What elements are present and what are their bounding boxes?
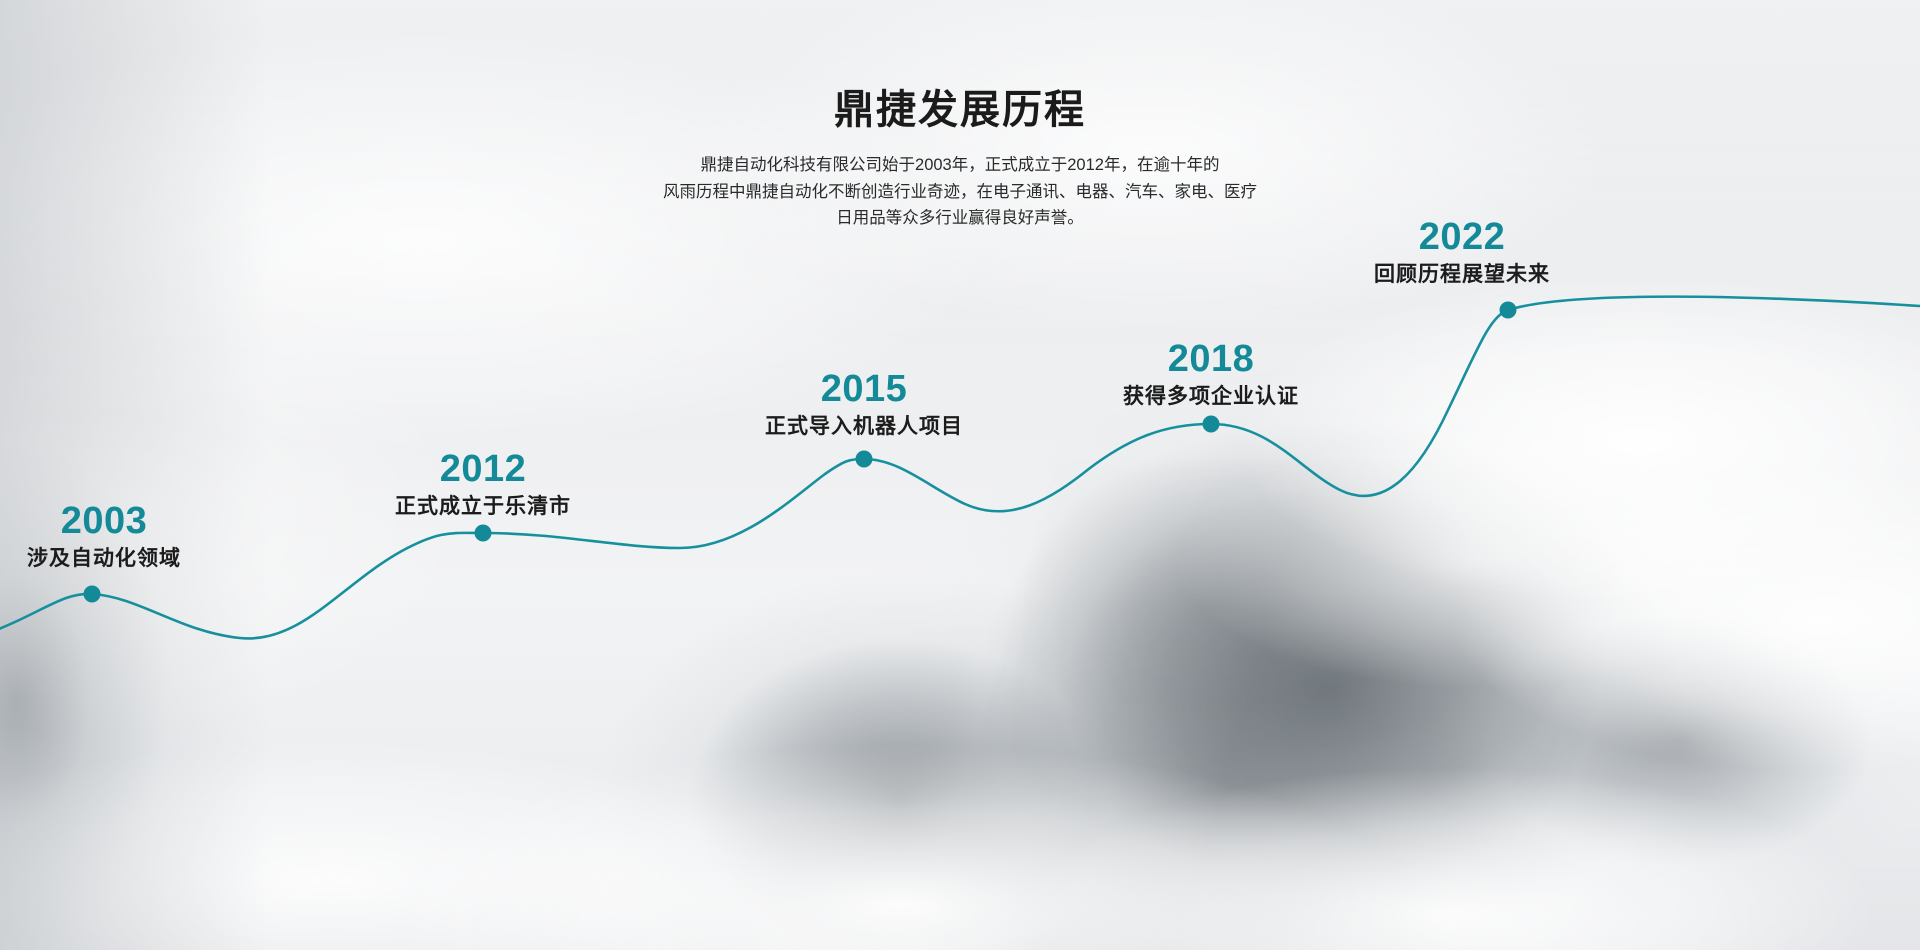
milestone-2003[interactable]: 2003涉及自动化领域 [27, 502, 181, 572]
page-description: 鼎捷自动化科技有限公司始于2003年，正式成立于2012年，在逾十年的 风雨历程… [0, 152, 1920, 232]
milestone-year-label: 2012 [395, 450, 571, 490]
milestone-description: 正式导入机器人项目 [765, 414, 963, 440]
milestone-description: 获得多项企业认证 [1123, 384, 1299, 410]
milestone-2015[interactable]: 2015正式导入机器人项目 [765, 370, 963, 440]
page-title: 鼎捷发展历程 [0, 86, 1920, 134]
milestone-description: 涉及自动化领域 [27, 546, 181, 572]
description-line-3: 日用品等众多行业赢得良好声誉。 [0, 205, 1920, 232]
milestone-description: 回顾历程展望未来 [1374, 262, 1550, 288]
timeline-infographic: 鼎捷发展历程 鼎捷自动化科技有限公司始于2003年，正式成立于2012年，在逾十… [0, 0, 1920, 950]
milestone-2018[interactable]: 2018获得多项企业认证 [1123, 340, 1299, 410]
milestone-year-label: 2003 [27, 502, 181, 542]
header-block: 鼎捷发展历程 鼎捷自动化科技有限公司始于2003年，正式成立于2012年，在逾十… [0, 86, 1920, 232]
description-line-2: 风雨历程中鼎捷自动化不断创造行业奇迹，在电子通讯、电器、汽车、家电、医疗 [0, 179, 1920, 206]
milestone-2012[interactable]: 2012正式成立于乐清市 [395, 450, 571, 520]
milestone-year-label: 2015 [765, 370, 963, 410]
milestone-year-label: 2018 [1123, 340, 1299, 380]
description-line-1: 鼎捷自动化科技有限公司始于2003年，正式成立于2012年，在逾十年的 [0, 152, 1920, 179]
milestone-description: 正式成立于乐清市 [395, 494, 571, 520]
